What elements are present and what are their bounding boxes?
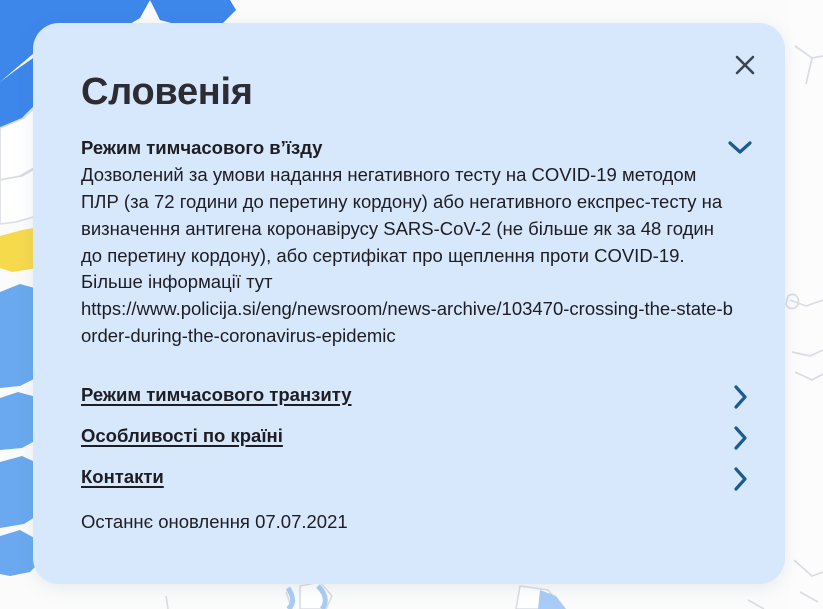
last-update-text: Останнє оновлення 07.07.2021 [81,509,763,535]
page-title: Словенія [81,71,253,114]
accordion-section-contacts[interactable]: Контакти [81,456,763,497]
accordion-contacts-label: Контакти [81,466,164,488]
chevron-right-icon [732,384,748,410]
collapsed-sections-list: Режим тимчасового транзиту Особливості п… [81,374,763,497]
chevron-down-icon [727,139,753,155]
accordion-section-entry-mode[interactable]: Режим тимчасового в’їзду [81,135,763,162]
chevron-right-icon [732,466,748,492]
accordion-entry-mode-content: Дозволений за умови надання негативного … [81,162,736,350]
accordion-section-transit[interactable]: Режим тимчасового транзиту [81,374,763,415]
screenshot-root: Словенія Режим тимчасового в’їзду Дозвол… [0,0,823,609]
accordion-contacts-toggle[interactable] [717,462,763,492]
accordion-entry-mode-label: Режим тимчасового в’їзду [81,135,322,162]
accordion-country-specifics-toggle[interactable] [717,421,763,451]
accordion-transit-toggle[interactable] [717,380,763,410]
entry-mode-source-url: https://www.policija.si/eng/newsroom/new… [81,296,736,350]
entry-mode-body-text: Дозволений за умови надання негативного … [81,164,722,293]
accordion-entry-mode-toggle[interactable] [717,135,763,155]
accordion-section-country-specifics[interactable]: Особливості по країні [81,415,763,456]
chevron-right-icon [732,425,748,451]
close-button[interactable] [725,45,765,85]
card-body: Режим тимчасового в’їзду Дозволений за у… [81,135,763,535]
accordion-transit-label: Режим тимчасового транзиту [81,384,352,406]
country-info-card: Словенія Режим тимчасового в’їзду Дозвол… [33,23,785,584]
map-region-white-right [790,0,823,609]
accordion-country-specifics-label: Особливості по країні [81,425,283,447]
close-icon [733,53,757,77]
